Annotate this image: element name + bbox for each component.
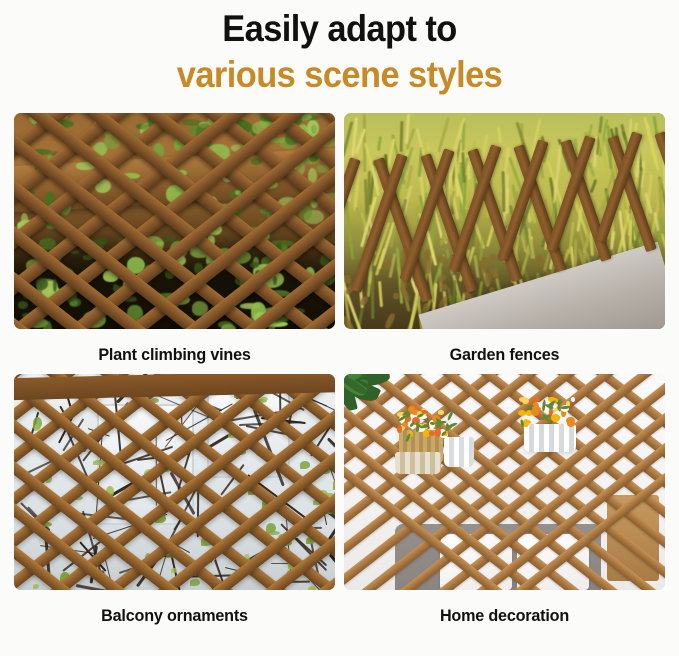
scene-photo-home-decoration	[344, 374, 665, 590]
scene-card-garden-fences: Garden fences	[344, 113, 665, 365]
title-line-accent: various scene styles	[24, 52, 655, 98]
scene-card-plant-climbing-vines: Plant climbing vines	[14, 113, 335, 365]
scene-caption-home-decoration: Home decoration	[352, 590, 657, 626]
scene-grid: Plant climbing vines Garden fences	[14, 113, 665, 626]
scene-card-balcony-ornaments: Balcony ornaments	[14, 374, 335, 626]
scene-caption-balcony-ornaments: Balcony ornaments	[22, 590, 327, 626]
scene-photo-balcony-ornaments	[14, 374, 335, 590]
infographic-page: Easily adapt to various scene styles Pla…	[0, 0, 679, 656]
scene-photo-plant-climbing-vines	[14, 113, 335, 329]
title-line-primary: Easily adapt to	[24, 6, 655, 52]
scene-caption-plant-climbing-vines: Plant climbing vines	[22, 329, 327, 365]
scene-photo-garden-fences	[344, 113, 665, 329]
page-title: Easily adapt to various scene styles	[0, 0, 679, 98]
scene-card-home-decoration: Home decoration	[344, 374, 665, 626]
scene-caption-garden-fences: Garden fences	[352, 329, 657, 365]
